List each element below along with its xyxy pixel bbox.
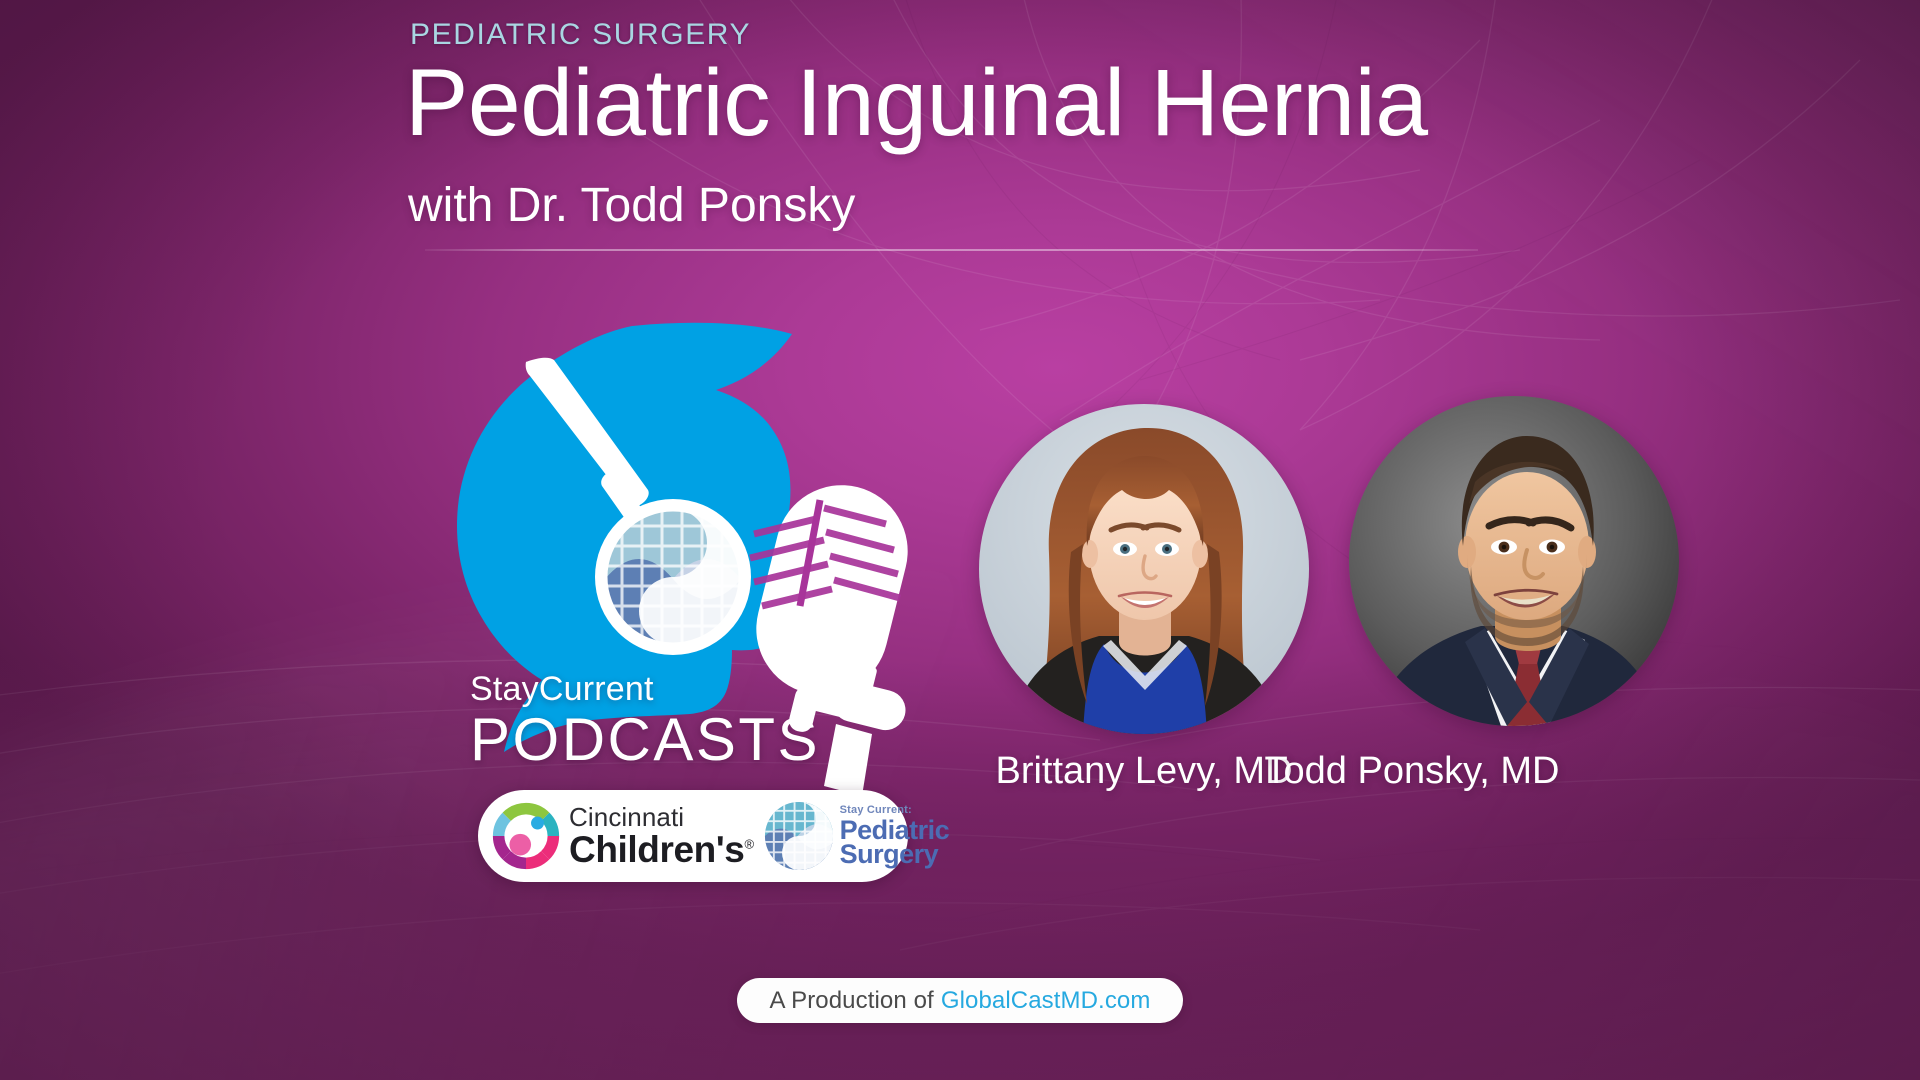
retro-microphone-icon: [748, 478, 948, 798]
globalcastmd-link[interactable]: GlobalCastMD.com: [941, 987, 1151, 1015]
page-subtitle: with Dr. Todd Ponsky: [408, 178, 855, 233]
avatar: [979, 404, 1309, 734]
guest-photo-todd-ponsky: [1349, 396, 1679, 726]
production-credit-pill[interactable]: A Production of GlobalCastMD.com: [737, 978, 1183, 1023]
sc-kicker: Stay Current:: [840, 805, 950, 816]
header-divider: [425, 249, 1478, 251]
cincinnati-childrens-wordmark: Cincinnati Children's®: [569, 804, 754, 868]
kicker-specialty: PEDIATRIC SURGERY: [410, 18, 751, 52]
partner-logo-badge: Cincinnati Children's® Stay Current: Ped…: [478, 790, 908, 882]
page-title: Pediatric Inguinal Hernia: [405, 52, 1428, 155]
cchmc-registered-mark: ®: [744, 837, 753, 852]
staycurrent-globe-icon: [762, 799, 836, 873]
cchmc-line-cincinnati: Cincinnati: [569, 804, 754, 830]
avatar: [1349, 396, 1679, 726]
guest-photo-brittany-levy: [979, 404, 1309, 734]
cincinnati-childrens-ring-icon: [490, 800, 562, 872]
podcast-title-card: PEDIATRIC SURGERY Pediatric Inguinal Her…: [0, 0, 1920, 1080]
cchmc-line-childrens: Children's®: [569, 831, 754, 868]
sc-line-surgery: Surgery: [840, 841, 950, 868]
staycurrent-pediatric-surgery-wordmark: Stay Current: Pediatric Surgery: [840, 805, 950, 868]
production-prefix: A Production of: [770, 987, 934, 1015]
guest-name-label: Todd Ponsky, MD: [1192, 750, 1632, 793]
